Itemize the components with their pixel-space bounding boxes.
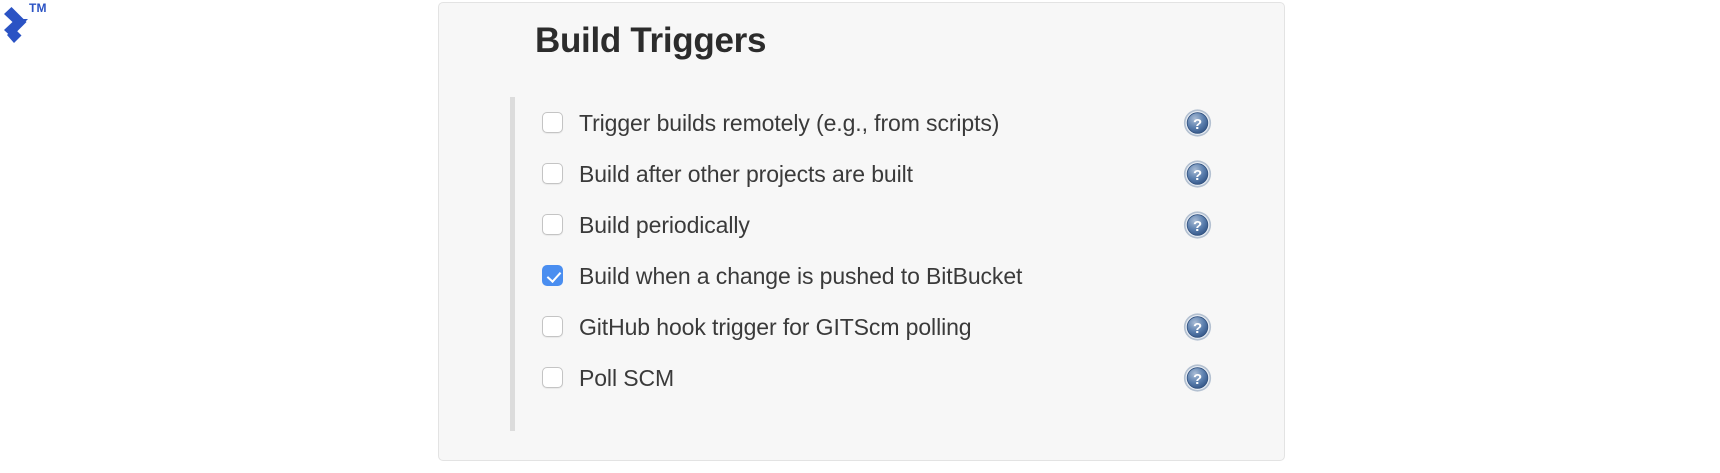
trigger-row[interactable]: GitHub hook trigger for GITScm polling ? [515,301,1270,352]
svg-text:?: ? [1193,166,1202,183]
checkbox-poll-scm[interactable] [542,367,563,388]
help-question-icon[interactable]: ? [1183,159,1212,188]
page-title: Build Triggers [535,19,766,63]
svg-text:?: ? [1193,319,1202,336]
checkbox-trigger-builds-remotely[interactable] [542,112,563,133]
svg-text:?: ? [1193,217,1202,234]
help-question-icon[interactable]: ? [1183,312,1212,341]
checkbox-github-hook-trigger[interactable] [542,316,563,337]
trigger-label: Build when a change is pushed to BitBuck… [579,262,1022,290]
jenkins-logo[interactable]: TM [2,1,60,49]
trigger-label: Build after other projects are built [579,160,913,188]
checkbox-build-after-other-projects[interactable] [542,163,563,184]
trigger-row[interactable]: Build when a change is pushed to BitBuck… [515,250,1270,301]
page-root: TM Build Triggers Trigger builds remotel… [0,0,1720,473]
trigger-list: Trigger builds remotely (e.g., from scri… [510,97,1270,431]
trademark-label: TM [29,2,47,14]
svg-text:?: ? [1193,370,1202,387]
trigger-label: Trigger builds remotely (e.g., from scri… [579,109,999,137]
trigger-label: GitHub hook trigger for GITScm polling [579,313,971,341]
svg-text:?: ? [1193,115,1202,132]
checkbox-build-on-bitbucket-push[interactable] [542,265,563,286]
checkbox-build-periodically[interactable] [542,214,563,235]
help-question-icon[interactable]: ? [1183,108,1212,137]
trigger-row[interactable]: Trigger builds remotely (e.g., from scri… [515,97,1270,148]
trigger-row[interactable]: Poll SCM ? [515,352,1270,403]
build-triggers-panel: Build Triggers Trigger builds remotely (… [438,2,1285,461]
help-question-icon[interactable]: ? [1183,210,1212,239]
help-question-icon[interactable]: ? [1183,363,1212,392]
trigger-label: Poll SCM [579,364,674,392]
trigger-row[interactable]: Build after other projects are built ? [515,148,1270,199]
trigger-row[interactable]: Build periodically ? [515,199,1270,250]
trigger-label: Build periodically [579,211,750,239]
